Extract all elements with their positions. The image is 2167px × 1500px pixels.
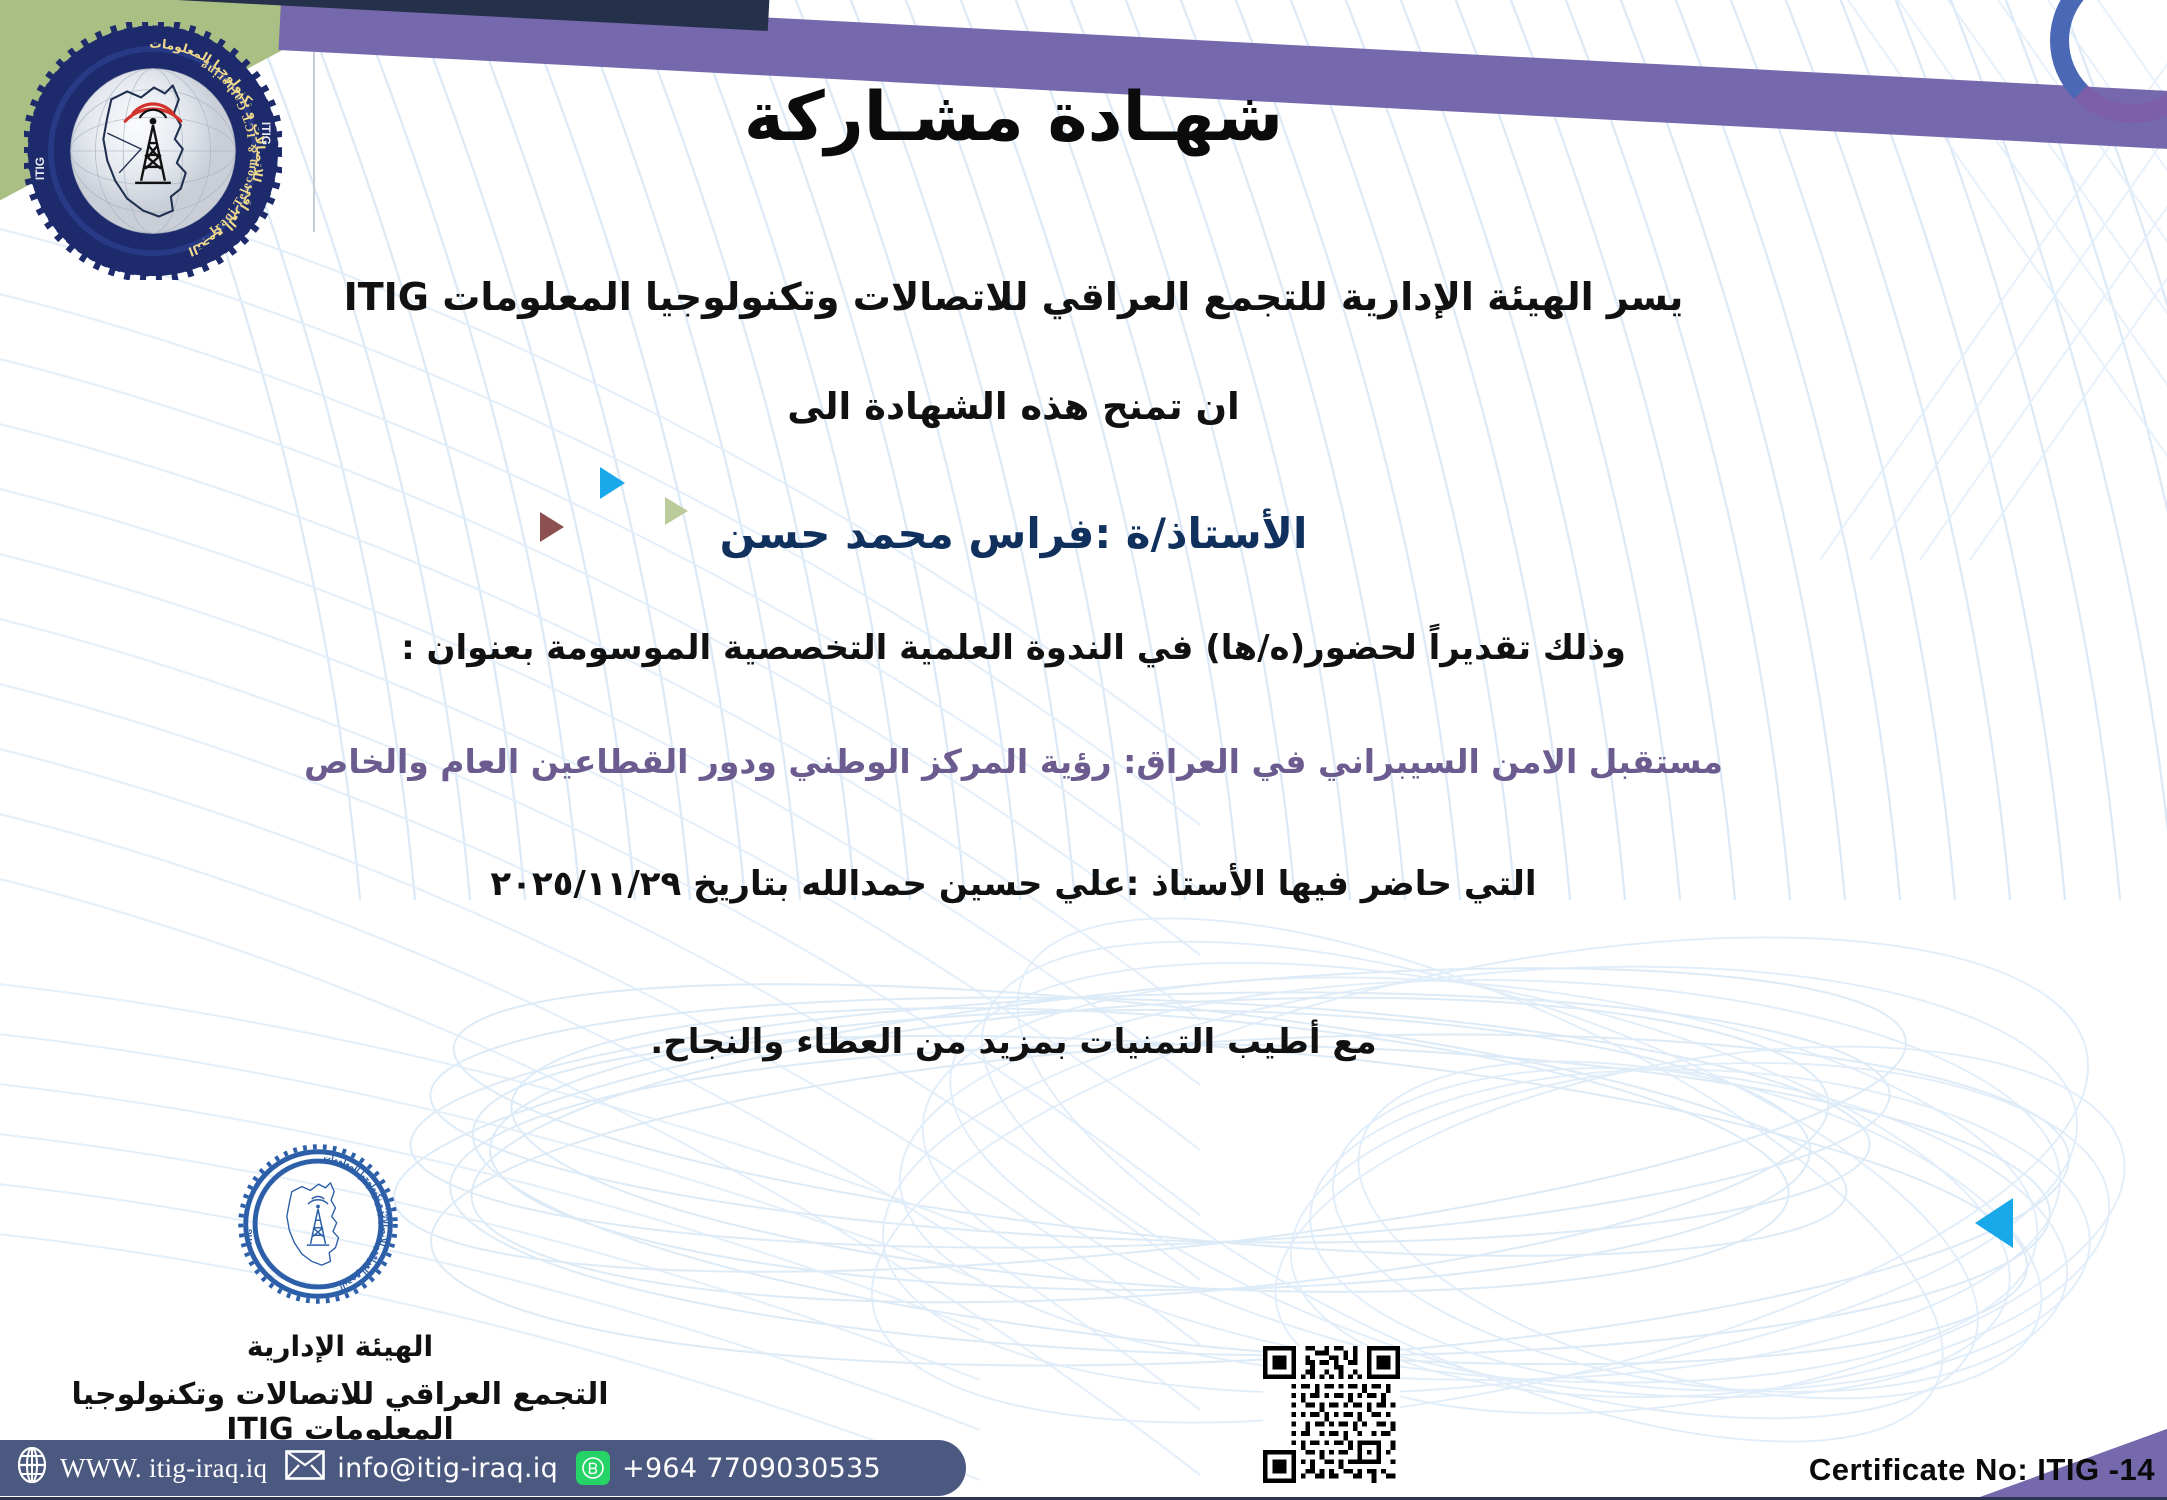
certificate-number: Certificate No: ITIG -14: [1809, 1452, 2155, 1488]
globe-icon: [16, 1446, 48, 1491]
signature-organization: التجمع العراقي للاتصالات وتكنولوجيا المع…: [0, 1377, 680, 1447]
signature-block: الهيئة الإدارية التجمع العراقي للاتصالات…: [0, 1330, 680, 1447]
contact-footer-bar: +964 7709030535 info@itig-iraq.iq: [0, 1440, 966, 1496]
phone-contact[interactable]: +964 7709030535: [576, 1451, 881, 1485]
envelope-icon: [285, 1450, 325, 1487]
phone-number: +964 7709030535: [622, 1453, 881, 1484]
email-contact[interactable]: info@itig-iraq.iq: [285, 1450, 558, 1487]
closing-wish-line: مع أطيب التمنيات بمزيد من العطاء والنجاح…: [0, 1020, 2097, 1066]
seal-acronym-left: ITIG: [33, 157, 47, 180]
issuing-organization-line: يسر الهيئة الإدارية للتجمع العراقي للاتص…: [0, 272, 2097, 323]
itig-stamp-logo: التجمع العراقي للاتصالات و تكنولوجيا الم…: [237, 1143, 399, 1305]
certificate-title: شهـادة مشـاركة: [0, 78, 2097, 157]
seminar-topic: مستقبل الامن السيبراني في العراق: رؤية ا…: [0, 740, 2097, 785]
stamp-acronym-left: ITIG: [246, 1229, 254, 1245]
qr-code[interactable]: [1263, 1346, 1400, 1483]
whatsapp-icon: [576, 1451, 610, 1485]
website-contact[interactable]: WWW. itig-iraq.iq: [16, 1446, 267, 1491]
grant-statement-line: ان تمنح هذه الشهادة الى: [0, 382, 2097, 432]
email-address: info@itig-iraq.iq: [337, 1453, 558, 1484]
cyan-triangle-large-icon: [1975, 1198, 2013, 1248]
lecturer-and-date-line: التي حاضر فيها الأستاذ :علي حسين حمدالله…: [0, 862, 2097, 908]
recipient-name: الأستاذ/ة :فراس محمد حسن: [0, 506, 2097, 563]
stamp-acronym-right: ITIG: [383, 1204, 391, 1220]
website-url: WWW. itig-iraq.iq: [60, 1453, 267, 1484]
appreciation-line: وذلك تقديراً لحضور(ه/ها) في الندوة العلم…: [0, 626, 2097, 672]
signature-authority: الهيئة الإدارية: [0, 1330, 680, 1363]
certificate-page: التجمع العراقي للاتصالات و تكنولوجيا الم…: [0, 0, 2167, 1500]
cyan-triangle-icon: [600, 467, 625, 499]
